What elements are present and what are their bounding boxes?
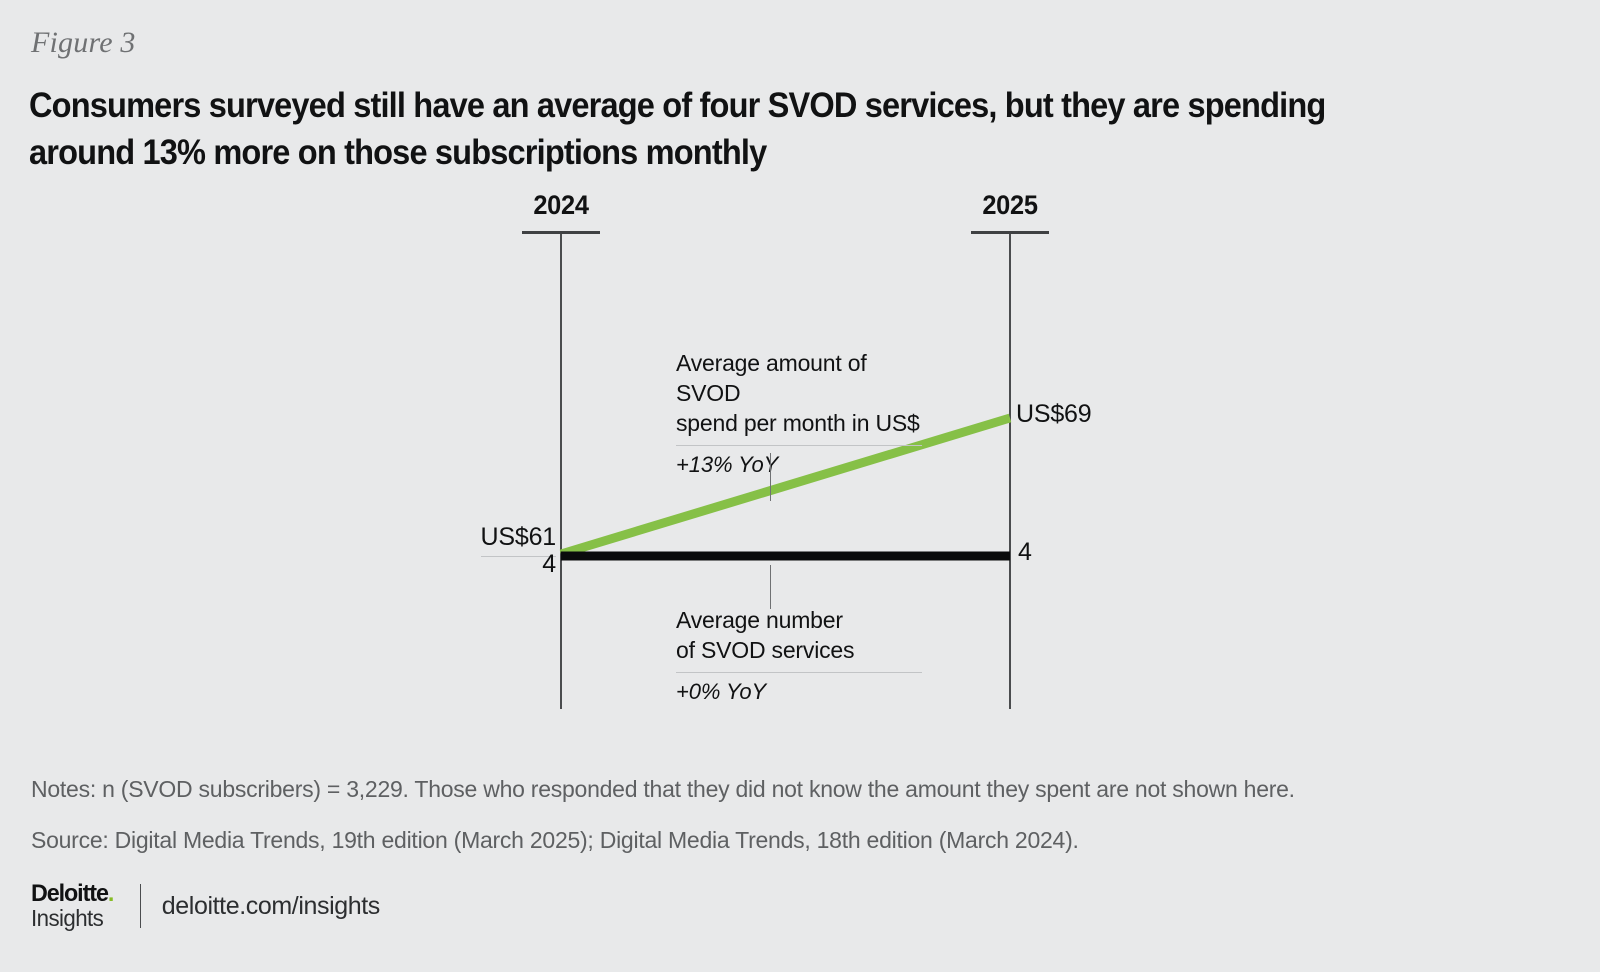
annotation-spend-yoy: +13% YoY xyxy=(676,452,922,478)
annotation-spend-leader-line xyxy=(770,453,771,501)
annotation-spend-line-2: spend per month in US$ xyxy=(676,408,922,438)
annotation-spend: Average amount of SVOD spend per month i… xyxy=(676,348,922,478)
annotation-services-line-2: of SVOD services xyxy=(676,635,922,665)
value-label-spend-2025: US$69 xyxy=(1016,400,1091,429)
value-label-services-2024: 4 xyxy=(542,550,556,579)
value-label-spend-2024: US$61 xyxy=(481,523,556,552)
value-label-services-2025: 4 xyxy=(1018,538,1032,567)
headline-line-1: Consumers surveyed still have an average… xyxy=(29,82,1378,129)
annotation-spend-line-1: Average amount of SVOD xyxy=(676,348,922,408)
logo-divider xyxy=(140,884,141,928)
logo-deloitte-wordmark: Deloitte. xyxy=(31,882,113,906)
figure-canvas: Figure 3 Consumers surveyed still have a… xyxy=(0,0,1600,972)
source-text: Source: Digital Media Trends, 19th editi… xyxy=(31,827,1079,854)
logo-accent-dot: . xyxy=(108,880,113,907)
logo-url: deloitte.com/insights xyxy=(162,892,380,921)
logo-mark: Deloitte. Insights xyxy=(31,882,116,930)
annotation-services-rule xyxy=(676,672,922,673)
figure-label: Figure 3 xyxy=(31,26,136,60)
annotation-services-line-1: Average number xyxy=(676,605,922,635)
chart-area: 2024 2025 US$61 4 US$69 4 Average amount… xyxy=(0,190,1600,750)
annotation-services-leader-line xyxy=(770,565,771,609)
logo-insights-wordmark: Insights xyxy=(31,907,113,930)
deloitte-insights-logo: Deloitte. Insights deloitte.com/insights xyxy=(31,882,380,930)
page-title: Consumers surveyed still have an average… xyxy=(29,82,1378,176)
annotation-spend-rule xyxy=(676,445,922,446)
annotation-services-yoy: +0% YoY xyxy=(676,679,922,705)
headline-line-2: around 13% more on those subscriptions m… xyxy=(29,129,1378,176)
notes-text: Notes: n (SVOD subscribers) = 3,229. Tho… xyxy=(31,776,1295,803)
annotation-services: Average number of SVOD services +0% YoY xyxy=(676,605,922,705)
